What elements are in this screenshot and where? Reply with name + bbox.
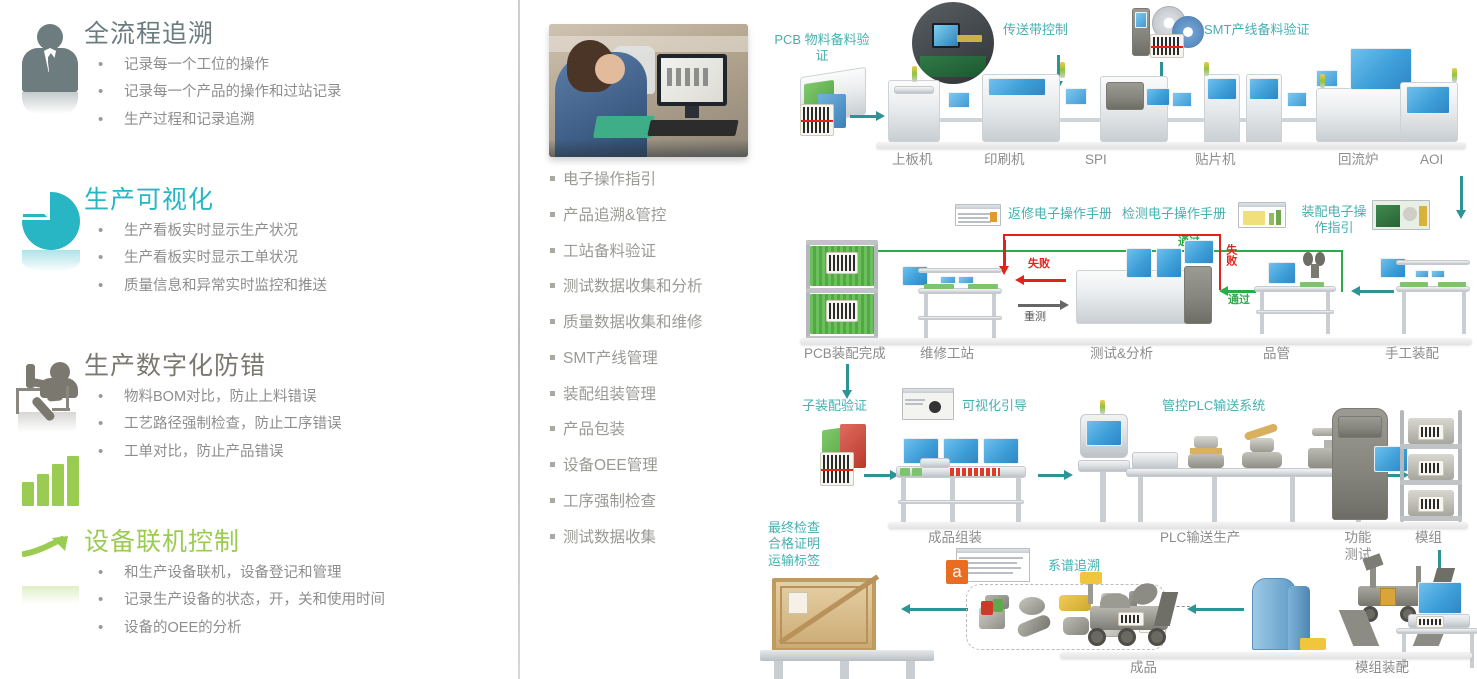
- station-label-module: 模组: [1415, 530, 1442, 547]
- assembly-tray: [1415, 270, 1429, 278]
- test-screen-a: [1126, 248, 1152, 278]
- flow-line-fail-top: [1003, 234, 1221, 236]
- callout-plc-conveyor-system: 管控PLC输送系统: [1162, 398, 1265, 414]
- feature-bullet-list: 记录每一个工位的操作 记录每一个产品的操作和过站记录 生产过程和记录追溯: [84, 54, 518, 131]
- repair-bench-pcb: [968, 284, 998, 289]
- flow-label-fail: 失败: [1028, 258, 1050, 272]
- plc-terminal-screen: [1086, 420, 1122, 446]
- machine-top: [894, 86, 934, 94]
- feature-icon-wrap: [0, 352, 84, 468]
- conveyor-leg: [1138, 477, 1143, 523]
- mounter-screen: [1249, 78, 1279, 100]
- arrow-down-aoi-to-assembly: [1460, 176, 1463, 212]
- callout-visual-guide: 可视化引导: [962, 398, 1027, 414]
- repair-bench-pcb: [924, 284, 954, 289]
- arrow-down-to-sub-assembly: [846, 364, 849, 392]
- wooden-crate: [772, 578, 876, 652]
- callout-final-inspection: 最终检查 合格证明 运输标签: [748, 520, 840, 569]
- station-label-loader: 上板机: [892, 152, 933, 169]
- yellow-marker: [1300, 638, 1326, 650]
- feature-bullet-list: 生产看板实时显示生产状况 生产看板实时显示工单状况 质量信息和异常实时监控和推送: [84, 220, 518, 297]
- operator-workstation-photo: [549, 24, 748, 157]
- station-label-spi: SPI: [1085, 152, 1107, 169]
- callout-repair-manual: 返修电子操作手册: [1008, 206, 1112, 222]
- bench-lower-shelf: [1256, 310, 1334, 314]
- conveyor-leg: [1290, 477, 1295, 523]
- spi-window: [1106, 82, 1144, 110]
- desk-leg: [1470, 634, 1474, 668]
- feature-block-traceability: 全流程追溯 记录每一个工位的操作 记录每一个产品的操作和过站记录 生产过程和记录…: [0, 20, 518, 136]
- list-item: 工站备料验证: [550, 240, 703, 263]
- test-monitor: [1184, 240, 1214, 264]
- list-item: 工艺路径强制检查，防止工序错误: [84, 413, 518, 435]
- feature-icon-wrap: [0, 186, 84, 302]
- bench-indicator: [900, 468, 910, 476]
- spi-screen: [1146, 88, 1170, 106]
- scanner-screen: [1135, 12, 1147, 28]
- list-item: 生产看板实时显示生产状况: [84, 220, 518, 242]
- andon-tower-icon: [1204, 62, 1209, 76]
- component-part: [981, 601, 993, 615]
- arrow-down-fail: [1003, 240, 1006, 268]
- station-label-reflow: 回流炉: [1338, 152, 1379, 169]
- conveyor-leg: [774, 661, 783, 679]
- plc-conveyor-belt: [1126, 468, 1366, 477]
- andon-tower-icon: [1452, 68, 1457, 82]
- output-conveyor: [760, 650, 934, 661]
- pcb-magazine-rack: [806, 240, 878, 342]
- station-label-pcb-done: PCB装配完成: [804, 346, 886, 363]
- repair-bench-shelf: [918, 268, 1002, 273]
- feature-icon-wrap: [0, 528, 84, 644]
- station-label-qc: 品管: [1263, 346, 1290, 363]
- station-label-aoi: AOI: [1420, 152, 1443, 169]
- arrow-left-fail: [1022, 279, 1066, 282]
- bench-lower-shelf: [918, 316, 1002, 320]
- station-label-test: 测试&分析: [1090, 346, 1153, 363]
- barcode-icon: [800, 104, 834, 136]
- bottom-floor-line: [1060, 652, 1472, 659]
- feature-title: 全流程追溯: [84, 20, 518, 49]
- conveyor-leg: [906, 661, 915, 679]
- list-item: 工序强制检查: [550, 490, 703, 513]
- assembly-guide-thumbnail: [1372, 200, 1430, 230]
- plc-robot-arm: [1238, 424, 1286, 468]
- station-label-printer: 印刷机: [984, 152, 1025, 169]
- station-screen: [1287, 92, 1307, 107]
- arrow-left-finished-goods: [1194, 608, 1244, 611]
- station-screen: [1065, 88, 1087, 105]
- andon-tower-icon: [1320, 74, 1325, 88]
- qc-bench-pcb: [1300, 282, 1324, 287]
- barcode-icon: [1150, 34, 1184, 58]
- flow-line-pass-vertical: [1341, 250, 1343, 292]
- smt-floor-line: [876, 142, 1466, 149]
- station-label-mounter: 贴片机: [1195, 152, 1236, 169]
- component-part: [993, 599, 1003, 612]
- list-item: 质量信息和异常实时监控和推送: [84, 275, 518, 297]
- list-item: 电子操作指引: [550, 168, 703, 191]
- station-label-finished-product: 成品: [1130, 660, 1157, 677]
- conveyor-leg: [1212, 477, 1217, 523]
- station-label-plc-line: PLC输送生产: [1160, 530, 1240, 547]
- arrow-right-to-final-assembly: [864, 474, 892, 477]
- list-item: 生产看板实时显示工单状况: [84, 247, 518, 269]
- station-label-final-assembly: 成品组装: [928, 530, 982, 547]
- feature-icon-wrap: [0, 20, 84, 136]
- plc-terminal-pole: [1100, 472, 1106, 524]
- arrow-right-retest: [1018, 304, 1062, 307]
- test-manual-thumbnail: [1238, 202, 1286, 228]
- list-item: 记录每一个工位的操作: [84, 54, 518, 76]
- plc-fixture-a: [1188, 436, 1224, 468]
- andon-tower-icon: [1100, 400, 1105, 414]
- qc-bench-top: [1254, 286, 1336, 292]
- production-flow-diagram: PCB 物料备料验 证 传送带控制 SMT产线备料验证: [760, 0, 1477, 679]
- final-assembly-floor-line: [888, 522, 1468, 529]
- list-item: 产品追溯&管控: [550, 204, 703, 227]
- middle-capabilities-panel: 电子操作指引 产品追溯&管控 工站备料验证 测试数据收集和分析 质量数据收集和维…: [540, 0, 755, 679]
- machine-test-analyzer: [1076, 270, 1194, 324]
- final-assembly-screen-3: [983, 438, 1019, 464]
- component-part: [1016, 613, 1053, 639]
- conveyor-leg: [840, 661, 849, 679]
- assembly-bench-shelf-a: [1396, 260, 1470, 265]
- assembly-tray: [1431, 270, 1445, 278]
- flow-label-pass-bottom: 通过: [1228, 294, 1250, 308]
- plc-terminal-base: [1078, 460, 1130, 472]
- station-label-module-assembly: 模组装配: [1355, 660, 1409, 677]
- list-item: 设备OEE管理: [550, 454, 703, 477]
- station-screen: [1172, 92, 1192, 107]
- barcode-icon: [1416, 616, 1444, 628]
- feature-bullet-list: 物料BOM对比，防止上料错误 工艺路径强制检查，防止工序错误 工单对比，防止产品…: [84, 386, 518, 463]
- repair-tray: [958, 276, 974, 284]
- feature-text: 生产可视化 生产看板实时显示生产状况 生产看板实时显示工单状况 质量信息和异常实…: [84, 186, 518, 302]
- arrow-left-to-qc: [1358, 290, 1394, 293]
- andon-tower-icon: [1060, 62, 1065, 78]
- callout-pcb-material-verify: PCB 物料备料验 证: [774, 32, 870, 65]
- function-test-panel: [1338, 416, 1382, 438]
- flow-label-fail-right: 失败: [1223, 244, 1237, 266]
- callout-sub-assembly-verify: 子装配验证: [802, 398, 867, 414]
- assembly-pcb: [1400, 282, 1428, 287]
- list-item: 质量数据收集和维修: [550, 311, 703, 334]
- slide-root: 全流程追溯 记录每一个工位的操作 记录每一个产品的操作和过站记录 生产过程和记录…: [0, 0, 1477, 679]
- growth-arrow-icon: [22, 536, 72, 558]
- capability-list: 电子操作指引 产品追溯&管控 工站备料验证 测试数据收集和分析 质量数据收集和维…: [550, 168, 703, 561]
- mounter-screen: [1207, 78, 1237, 100]
- station-label-manual-asm: 手工装配: [1385, 346, 1439, 363]
- list-item: 记录每一个产品的操作和过站记录: [84, 81, 518, 103]
- list-item: 物料BOM对比，防止上料错误: [84, 386, 518, 408]
- feature-text: 设备联机控制 和生产设备联机，设备登记和管理 记录生产设备的状态，开，关和使用时…: [84, 528, 518, 644]
- left-feature-panel: 全流程追溯 记录每一个工位的操作 记录每一个产品的操作和过站记录 生产过程和记录…: [0, 0, 518, 679]
- list-item: 工单对比，防止产品错误: [84, 441, 518, 463]
- assembly-pcb: [1438, 282, 1466, 287]
- arrow-left-pass-qc: [1226, 290, 1256, 293]
- bench-lower-shelf: [898, 500, 1024, 504]
- feature-title: 设备联机控制: [84, 528, 518, 557]
- printer-screen: [988, 78, 1046, 96]
- callout-conveyor-control: 传送带控制: [1003, 22, 1068, 38]
- vertical-divider: [518, 0, 520, 679]
- barcode-icon: [820, 452, 854, 486]
- arrow-left-to-packaging: [908, 608, 968, 611]
- test-cabinet: [1184, 266, 1212, 324]
- visual-guide-thumbnail: [902, 388, 954, 420]
- test-screen-b: [1156, 248, 1182, 278]
- bench-leg: [1462, 292, 1466, 334]
- bench-box: [920, 458, 950, 468]
- conveyor-control-photo: [912, 2, 994, 84]
- list-item: 测试数据收集: [550, 526, 703, 549]
- list-item: 装配组装管理: [550, 383, 703, 406]
- scan-desk-top: [1396, 628, 1477, 634]
- flow-line-pass: [863, 250, 1343, 252]
- bench-indicator: [912, 468, 922, 476]
- list-item: 记录生产设备的状态，开，关和使用时间: [84, 589, 518, 611]
- assembly-floor-line: [800, 338, 1472, 345]
- list-item: 测试数据收集和分析: [550, 275, 703, 298]
- callout-test-manual: 检测电子操作手册: [1122, 206, 1226, 222]
- station-screen: [948, 92, 970, 108]
- feature-block-equipment-control: 设备联机控制 和生产设备联机，设备登记和管理 记录生产设备的状态，开，关和使用时…: [0, 528, 518, 644]
- feature-block-visualization: 生产可视化 生产看板实时显示生产状况 生产看板实时显示工单状况 质量信息和异常实…: [0, 186, 518, 302]
- app-badge-a: a: [946, 560, 968, 584]
- repair-tray: [940, 276, 956, 284]
- aoi-screen: [1406, 86, 1450, 114]
- flow-label-retest: 重测: [1024, 311, 1046, 325]
- finished-product-rover: [1080, 582, 1190, 652]
- flow-line-fail-right: [1219, 234, 1221, 290]
- list-item: SMT产线管理: [550, 347, 703, 370]
- bench-red-strip: [950, 468, 1000, 476]
- feature-bullet-list: 和生产设备联机，设备登记和管理 记录生产设备的状态，开，关和使用时间 设备的OE…: [84, 562, 518, 639]
- arrow-right-to-plc: [1038, 474, 1066, 477]
- bench-leg: [1402, 292, 1406, 334]
- feature-text: 生产数字化防错 物料BOM对比，防止上料错误 工艺路径强制检查，防止工序错误 工…: [84, 352, 518, 468]
- repair-manual-thumbnail: [955, 204, 1001, 226]
- list-item: 生产过程和记录追溯: [84, 109, 518, 131]
- list-item: 设备的OEE的分析: [84, 617, 518, 639]
- module-scan-screen: [1418, 582, 1462, 614]
- feature-title: 生产可视化: [84, 186, 518, 215]
- feature-title: 生产数字化防错: [84, 352, 518, 381]
- component-part: [1019, 597, 1045, 615]
- module-storage-rack: [1400, 410, 1462, 522]
- feature-block-errorproofing: 生产数字化防错 物料BOM对比，防止上料错误 工艺路径强制检查，防止工序错误 工…: [0, 352, 518, 468]
- arrow-right-to-loader: [850, 115, 878, 118]
- feature-text: 全流程追溯 记录每一个工位的操作 记录每一个产品的操作和过站记录 生产过程和记录…: [84, 20, 518, 136]
- station-label-repair: 维修工站: [920, 346, 974, 363]
- callout-smt-line-material-verify: SMT产线备料验证: [1204, 22, 1309, 38]
- microscope-icon: [1303, 252, 1327, 268]
- callout-assembly-guide: 装配电子操 作指引: [1298, 204, 1370, 237]
- qc-screen: [1268, 262, 1296, 284]
- list-item: 产品包装: [550, 418, 703, 441]
- list-item: 和生产设备联机，设备登记和管理: [84, 562, 518, 584]
- andon-tower-icon: [912, 66, 917, 82]
